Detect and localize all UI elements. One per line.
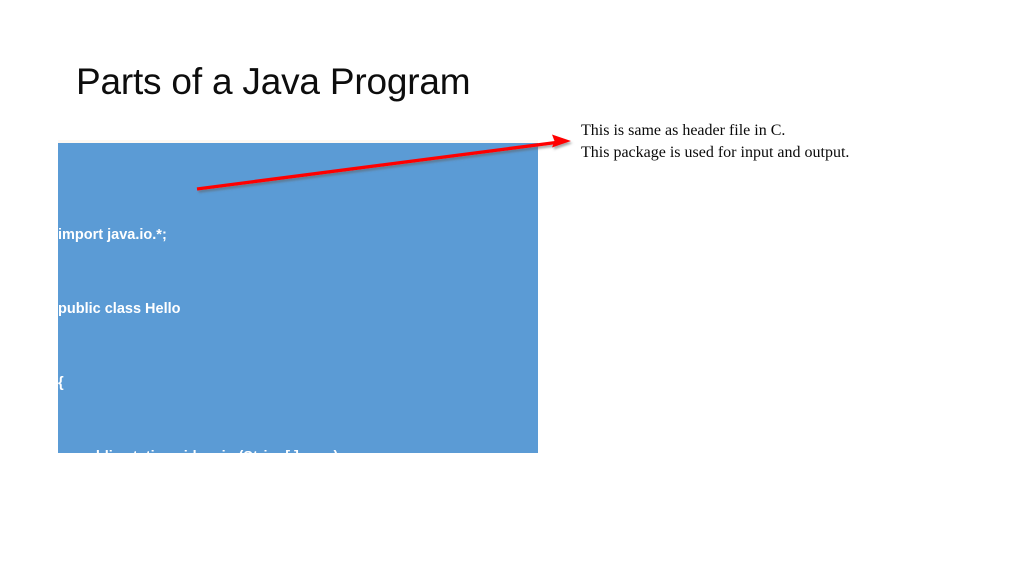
code-line: public class Hello — [58, 297, 538, 322]
code-line: { — [58, 371, 538, 396]
annotation-text: This is same as header file in C. This p… — [581, 120, 849, 163]
page-title: Parts of a Java Program — [76, 60, 470, 104]
slide-canvas: Parts of a Java Program import java.io.*… — [0, 0, 1024, 576]
code-listing: import java.io.*; public class Hello { p… — [58, 174, 538, 453]
annotation-line: This package is used for input and outpu… — [581, 142, 849, 164]
code-line: import java.io.*; — [58, 223, 538, 248]
annotation-line: This is same as header file in C. — [581, 120, 849, 142]
code-line: public static void main (String[ ] args) — [58, 445, 538, 453]
code-block: import java.io.*; public class Hello { p… — [58, 143, 538, 453]
